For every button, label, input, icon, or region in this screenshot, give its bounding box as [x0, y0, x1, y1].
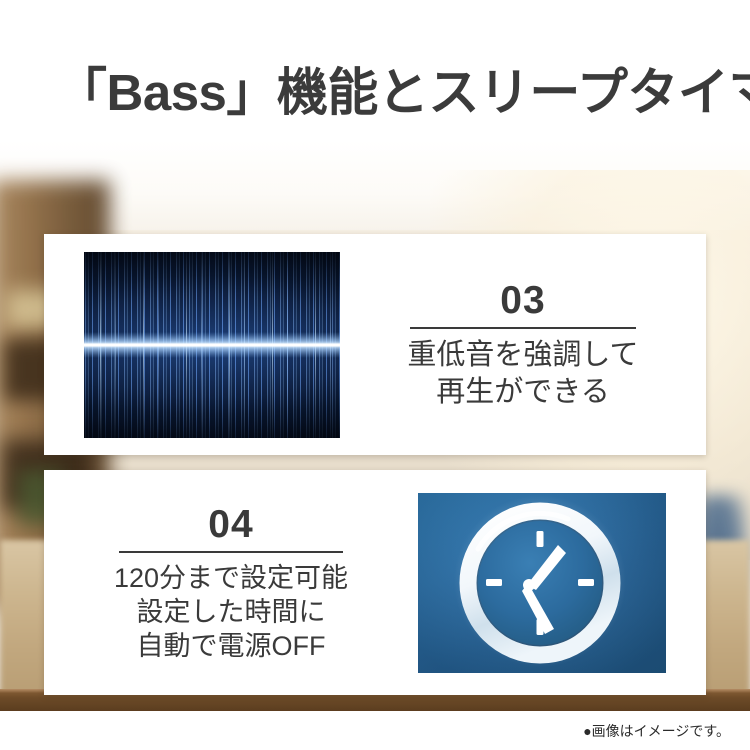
waveform-media [44, 252, 340, 438]
divider-rule-03 [410, 327, 636, 329]
clock-image [418, 493, 666, 673]
feature-card-04-text: 04 120分まで設定可能 設定した時間に 自動で電源OFF [44, 503, 418, 663]
clock-tick-12 [537, 531, 544, 547]
audio-waveform-image [84, 252, 340, 438]
divider-rule-04 [119, 551, 343, 553]
feature-caption-03-line-2: 再生ができる [340, 374, 706, 411]
clock-icon [418, 493, 666, 673]
feature-caption-04-line-2: 設定した時間に [44, 595, 418, 629]
waveform-center-line [84, 343, 340, 346]
feature-card-04[interactable]: 04 120分まで設定可能 設定した時間に 自動で電源OFF [44, 470, 706, 695]
feature-caption-04-line-1: 120分まで設定可能 [44, 561, 418, 595]
feature-card-03[interactable]: 03 重低音を強調して 再生ができる [44, 234, 706, 455]
clock-tick-3 [578, 579, 594, 586]
product-feature-slide: 「Bass」機能とスリープタイマー 03 重低音を強調して 再 [0, 0, 750, 750]
clock-tick-9 [486, 579, 502, 586]
clock-media [418, 493, 706, 673]
page-title: 「Bass」機能とスリープタイマー [56, 62, 716, 124]
image-disclaimer-note: ●画像はイメージです。 [583, 722, 730, 740]
feature-card-03-text: 03 重低音を強調して 再生ができる [340, 279, 706, 411]
feature-caption-03-line-1: 重低音を強調して [340, 337, 706, 374]
feature-number-04: 04 [44, 503, 418, 547]
feature-caption-04-line-3: 自動で電源OFF [44, 629, 418, 663]
clock-center-hub [523, 579, 535, 591]
feature-number-03: 03 [340, 279, 706, 323]
